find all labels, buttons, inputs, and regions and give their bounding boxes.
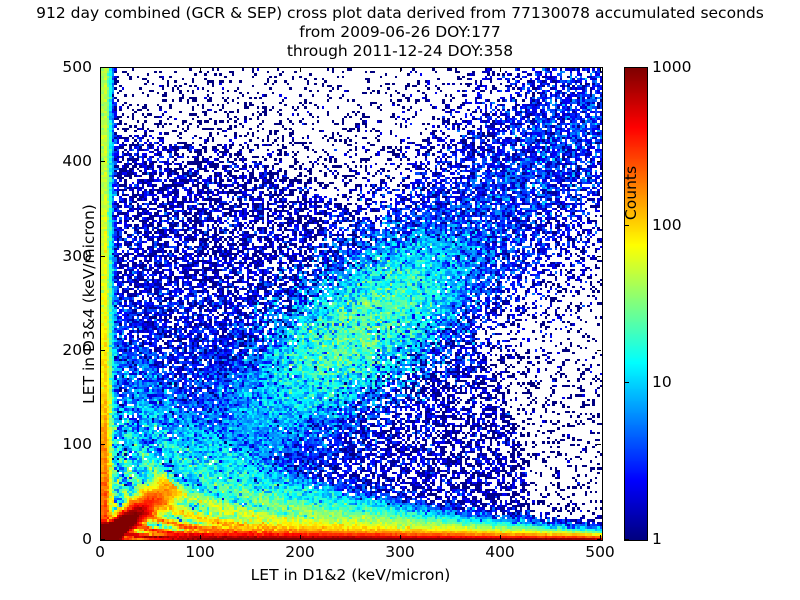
x-tick-top-0 bbox=[100, 68, 101, 72]
x-axis-label: LET in D1&2 (keV/micron) bbox=[100, 566, 601, 584]
y-tick-100 bbox=[101, 444, 105, 445]
x-ticklabel-400: 400 bbox=[485, 543, 515, 561]
x-tick-300 bbox=[400, 535, 401, 539]
x-ticklabel-500: 500 bbox=[585, 543, 615, 561]
x-tick-top-100 bbox=[200, 68, 201, 72]
y-tick-right-400 bbox=[597, 161, 601, 162]
y-tick-right-200 bbox=[597, 350, 601, 351]
y-tick-500 bbox=[101, 67, 105, 68]
title-line-2: from 2009-06-26 DOY:177 bbox=[0, 23, 800, 42]
colorbar-ticklabel-100: 100 bbox=[652, 216, 682, 234]
x-tick-100 bbox=[200, 535, 201, 539]
x-tick-200 bbox=[300, 535, 301, 539]
y-tick-0 bbox=[101, 539, 105, 540]
x-tick-top-500 bbox=[600, 68, 601, 72]
y-tick-200 bbox=[101, 350, 105, 351]
x-ticklabel-200: 200 bbox=[285, 543, 315, 561]
x-tick-top-200 bbox=[300, 68, 301, 72]
y-tick-right-300 bbox=[597, 256, 601, 257]
plot-axes bbox=[100, 67, 603, 541]
y-tick-right-500 bbox=[597, 67, 601, 68]
x-tick-top-400 bbox=[500, 68, 501, 72]
colorbar-tick-1000 bbox=[625, 67, 629, 68]
colorbar-ticklabel-1000: 1000 bbox=[652, 58, 691, 76]
y-tick-400 bbox=[101, 161, 105, 162]
y-axis-label: LET in D3&4 (keV/micron) bbox=[80, 68, 98, 540]
plot-title: 912 day combined (GCR & SEP) cross plot … bbox=[0, 4, 800, 61]
heatmap-data-layer bbox=[101, 68, 602, 540]
colorbar-label: Counts bbox=[622, 83, 640, 303]
x-ticklabel-300: 300 bbox=[385, 543, 415, 561]
y-tick-300 bbox=[101, 256, 105, 257]
colorbar-ticklabel-1: 1 bbox=[652, 530, 662, 548]
colorbar-ticklabel-10: 10 bbox=[652, 373, 672, 391]
x-tick-400 bbox=[500, 535, 501, 539]
x-ticklabel-100: 100 bbox=[185, 543, 215, 561]
figure-canvas: 912 day combined (GCR & SEP) cross plot … bbox=[0, 0, 800, 600]
title-line-1: 912 day combined (GCR & SEP) cross plot … bbox=[0, 4, 800, 23]
y-tick-right-0 bbox=[597, 539, 601, 540]
colorbar-tick-1 bbox=[625, 539, 629, 540]
x-tick-top-300 bbox=[400, 68, 401, 72]
colorbar-tick-10 bbox=[625, 382, 629, 383]
x-ticklabel-0: 0 bbox=[95, 543, 105, 561]
y-tick-right-100 bbox=[597, 444, 601, 445]
